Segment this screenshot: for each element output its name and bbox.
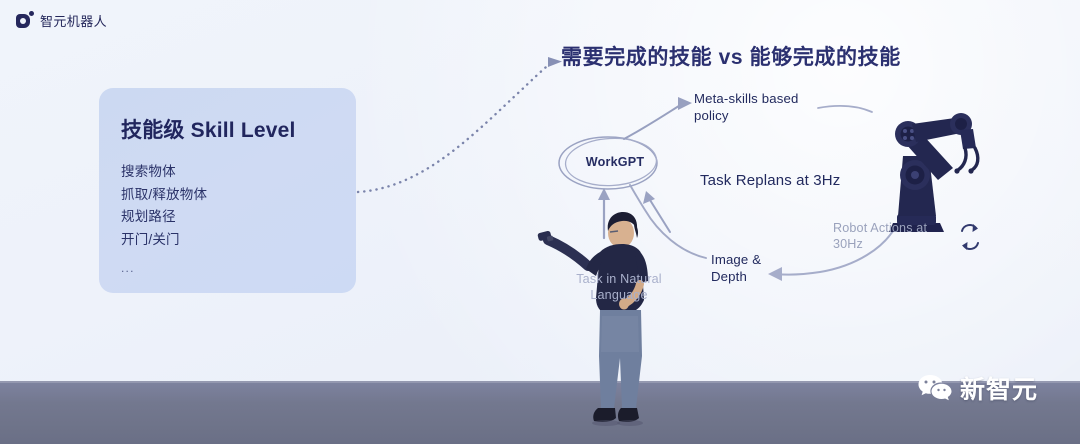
label-task-natural-language: Task in Natural Language	[559, 271, 679, 303]
label-task-replans: Task Replans at 3Hz	[700, 172, 840, 189]
list-item: 开门/关门	[121, 229, 356, 252]
node-label-workgpt: WorkGPT	[573, 154, 657, 171]
list-item: 抓取/释放物体	[121, 184, 356, 207]
screenshot-root: 智元机器人 技能级 Skill Level 搜索物体 抓取/释放物体 规划路径 …	[0, 0, 1080, 444]
list-item: 搜索物体	[121, 161, 356, 184]
label-image-depth: Image & Depth	[711, 251, 761, 285]
list-item: 规划路径	[121, 206, 356, 229]
watermark-text: 新智元	[960, 370, 1038, 406]
skill-card-list: 搜索物体 抓取/释放物体 规划路径 开门/关门 ...	[121, 161, 356, 280]
slide-headline: 需要完成的技能 vs 能够完成的技能	[561, 41, 901, 71]
label-meta-skills-policy: Meta-skills based policy	[694, 90, 798, 124]
brand-logo-text: 智元机器人	[40, 11, 107, 30]
droplet-logo-icon	[16, 12, 33, 29]
skill-card-title: 技能级 Skill Level	[121, 114, 356, 144]
list-item-ellipsis: ...	[121, 257, 356, 280]
wechat-icon	[918, 373, 952, 403]
watermark: 新智元	[918, 370, 1038, 406]
skill-level-card: 技能级 Skill Level 搜索物体 抓取/释放物体 规划路径 开门/关门 …	[99, 88, 356, 293]
brand-logo: 智元机器人	[16, 11, 107, 30]
label-robot-actions: Robot Actions at 30Hz	[833, 220, 927, 252]
